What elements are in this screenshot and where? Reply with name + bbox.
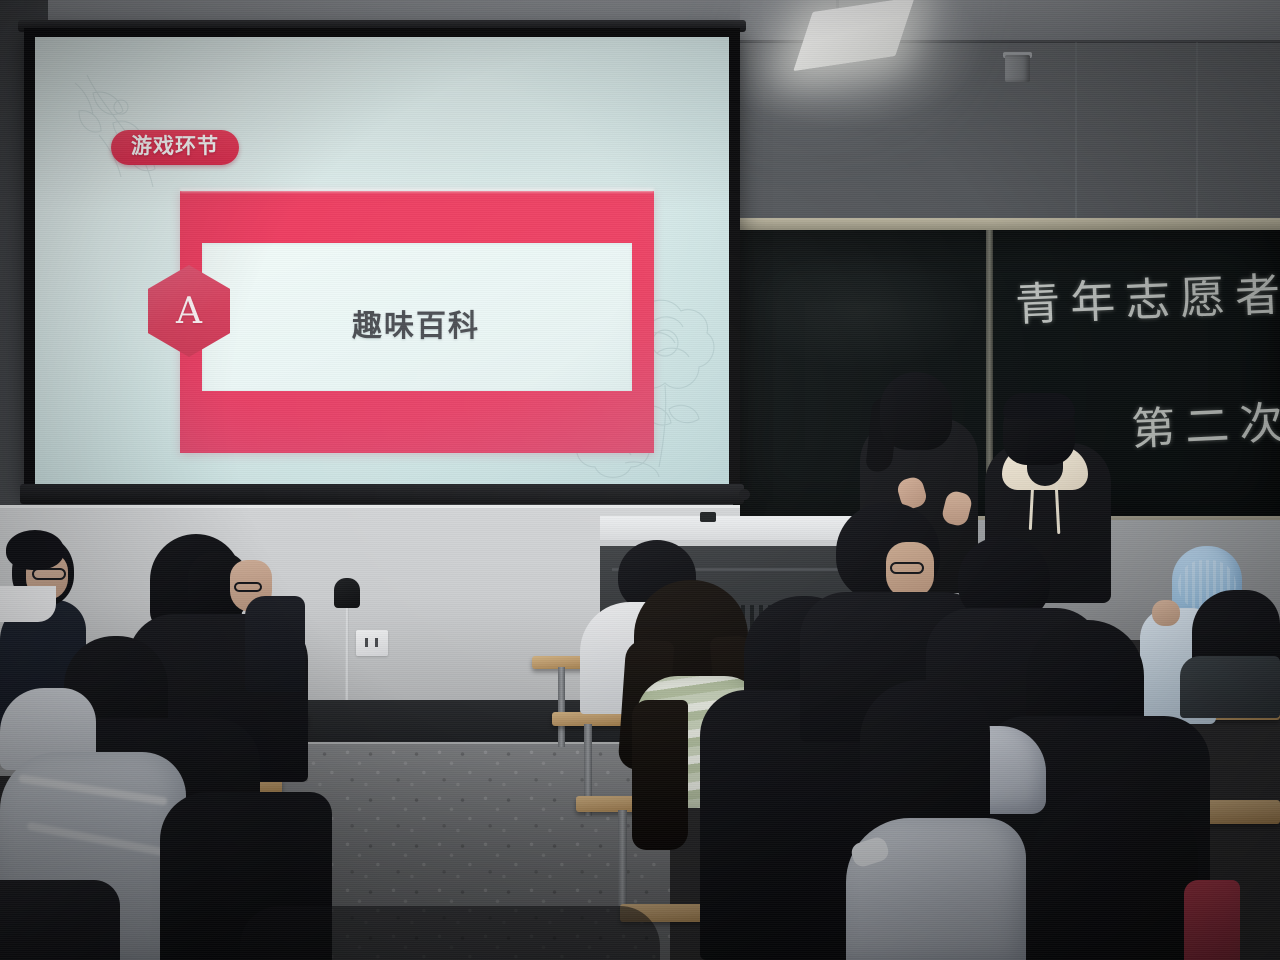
student-long-hair — [1030, 786, 1198, 960]
desk-leg — [558, 667, 565, 747]
desk-leg — [618, 810, 627, 906]
presenter-right-bangs — [1003, 393, 1075, 419]
glasses-icon — [234, 582, 262, 592]
power-outlet-icon — [356, 630, 388, 656]
student-head — [860, 680, 990, 830]
slide-hexagon-badge: A — [148, 265, 230, 357]
wall-cylinder-fixture-icon — [1005, 55, 1030, 82]
blackboard-top-rail — [733, 218, 1280, 230]
chalk-text-line-1: 青年志愿者服 — [1014, 256, 1280, 334]
desk-surface — [1198, 800, 1280, 824]
student-dark-coat — [245, 596, 305, 692]
presentation-slide: 游戏环节 A 趣味百科 — [35, 37, 729, 484]
frame-highlight — [180, 188, 654, 192]
student-hand — [1152, 600, 1180, 626]
student-red-garment — [1184, 880, 1240, 960]
glasses-icon — [890, 562, 924, 574]
equipment-knob — [700, 512, 716, 522]
slide-section-badge: 游戏环节 — [111, 130, 239, 165]
student-scarf — [1180, 656, 1280, 718]
foreground-shadow — [240, 906, 660, 960]
student-hair — [6, 530, 64, 570]
student-dark-lap — [0, 880, 120, 960]
hair-strand — [632, 700, 688, 850]
classroom-scene: 青年志愿者服 第二次 — [0, 0, 1280, 960]
hexagon-letter: A — [148, 265, 230, 357]
chalk-text-line-2: 第二次 — [1130, 386, 1280, 457]
presenter-left-hair — [880, 372, 952, 450]
projection-screen: 游戏环节 A 趣味百科 — [24, 28, 740, 498]
slide-title: 趣味百科 — [352, 301, 480, 345]
chalk-dust — [743, 250, 983, 370]
wall-speaker-icon — [334, 578, 360, 608]
screen-bottom-weight-bar — [20, 484, 744, 504]
student-collar — [0, 586, 56, 622]
